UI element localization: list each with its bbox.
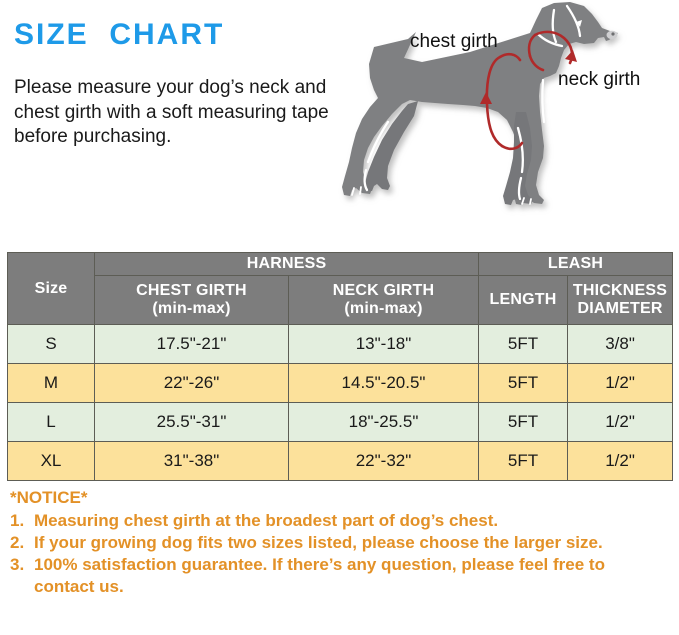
cell-leash-length: 5FT <box>479 442 568 481</box>
dog-illustration: chest girth neck girth <box>330 0 679 222</box>
cell-leash-length: 5FT <box>479 364 568 403</box>
notice-item-text: Measuring chest girth at the broadest pa… <box>34 511 498 530</box>
table-group-header-row: Size HARNESS LEASH <box>8 253 673 276</box>
thickness-subtitle: DIAMETER <box>568 300 672 318</box>
table-body: S 17.5"-21" 13"-18" 5FT 3/8" M 22"-26" 1… <box>8 325 673 481</box>
cell-chest-girth: 31"-38" <box>95 442 289 481</box>
notice-item: 3. 100% satisfaction guarantee. If there… <box>10 554 670 598</box>
cell-size: M <box>8 364 95 403</box>
column-header-length: LENGTH <box>479 276 568 325</box>
cell-chest-girth: 17.5"-21" <box>95 325 289 364</box>
table-row: XL 31"-38" 22"-32" 5FT 1/2" <box>8 442 673 481</box>
column-header-neck-girth: NECK GIRTH (min-max) <box>289 276 479 325</box>
notice-item-number: 1. <box>10 510 24 532</box>
size-chart-table: Size HARNESS LEASH CHEST GIRTH (min-max)… <box>7 252 673 481</box>
notice-item-text: 100% satisfaction guarantee. If there’s … <box>34 555 605 596</box>
chest-girth-label: chest girth <box>410 31 498 52</box>
thickness-title: THICKNESS <box>573 282 667 299</box>
cell-size: XL <box>8 442 95 481</box>
size-chart-table-container: Size HARNESS LEASH CHEST GIRTH (min-max)… <box>7 252 672 481</box>
table-row: L 25.5"-31" 18"-25.5" 5FT 1/2" <box>8 403 673 442</box>
notice-item-number: 2. <box>10 532 24 554</box>
notice-list: 1. Measuring chest girth at the broadest… <box>10 510 670 598</box>
cell-size: S <box>8 325 95 364</box>
table-row: S 17.5"-21" 13"-18" 5FT 3/8" <box>8 325 673 364</box>
notice-block: *NOTICE* 1. Measuring chest girth at the… <box>10 487 670 598</box>
intro-block: SIZE CHART Please measure your dog’s nec… <box>14 20 334 150</box>
cell-neck-girth: 22"-32" <box>289 442 479 481</box>
neck-girth-label: neck girth <box>558 69 640 90</box>
column-header-size: Size <box>8 253 95 325</box>
cell-leash-thickness: 1/2" <box>568 442 673 481</box>
cell-neck-girth: 14.5"-20.5" <box>289 364 479 403</box>
chest-girth-subtitle: (min-max) <box>95 300 288 318</box>
cell-chest-girth: 25.5"-31" <box>95 403 289 442</box>
column-header-thickness: THICKNESS DIAMETER <box>568 276 673 325</box>
neck-girth-subtitle: (min-max) <box>289 300 478 318</box>
group-header-leash: LEASH <box>479 253 673 276</box>
cell-chest-girth: 22"-26" <box>95 364 289 403</box>
intro-description: Please measure your dog’s neck and chest… <box>14 76 334 150</box>
notice-heading: *NOTICE* <box>10 487 670 509</box>
notice-item-number: 3. <box>10 554 24 576</box>
column-header-chest-girth: CHEST GIRTH (min-max) <box>95 276 289 325</box>
group-header-harness: HARNESS <box>95 253 479 276</box>
cell-neck-girth: 13"-18" <box>289 325 479 364</box>
cell-leash-thickness: 1/2" <box>568 364 673 403</box>
notice-item: 1. Measuring chest girth at the broadest… <box>10 510 670 532</box>
cell-leash-length: 5FT <box>479 403 568 442</box>
cell-leash-thickness: 3/8" <box>568 325 673 364</box>
cell-leash-thickness: 1/2" <box>568 403 673 442</box>
table-row: M 22"-26" 14.5"-20.5" 5FT 1/2" <box>8 364 673 403</box>
cell-neck-girth: 18"-25.5" <box>289 403 479 442</box>
notice-item: 2. If your growing dog fits two sizes li… <box>10 532 670 554</box>
chest-girth-title: CHEST GIRTH <box>136 282 247 299</box>
cell-leash-length: 5FT <box>479 325 568 364</box>
cell-size: L <box>8 403 95 442</box>
table-header: Size HARNESS LEASH CHEST GIRTH (min-max)… <box>8 253 673 325</box>
notice-item-text: If your growing dog fits two sizes liste… <box>34 533 603 552</box>
page-title: SIZE CHART <box>14 20 334 50</box>
table-sub-header-row: CHEST GIRTH (min-max) NECK GIRTH (min-ma… <box>8 276 673 325</box>
neck-girth-title: NECK GIRTH <box>333 282 435 299</box>
